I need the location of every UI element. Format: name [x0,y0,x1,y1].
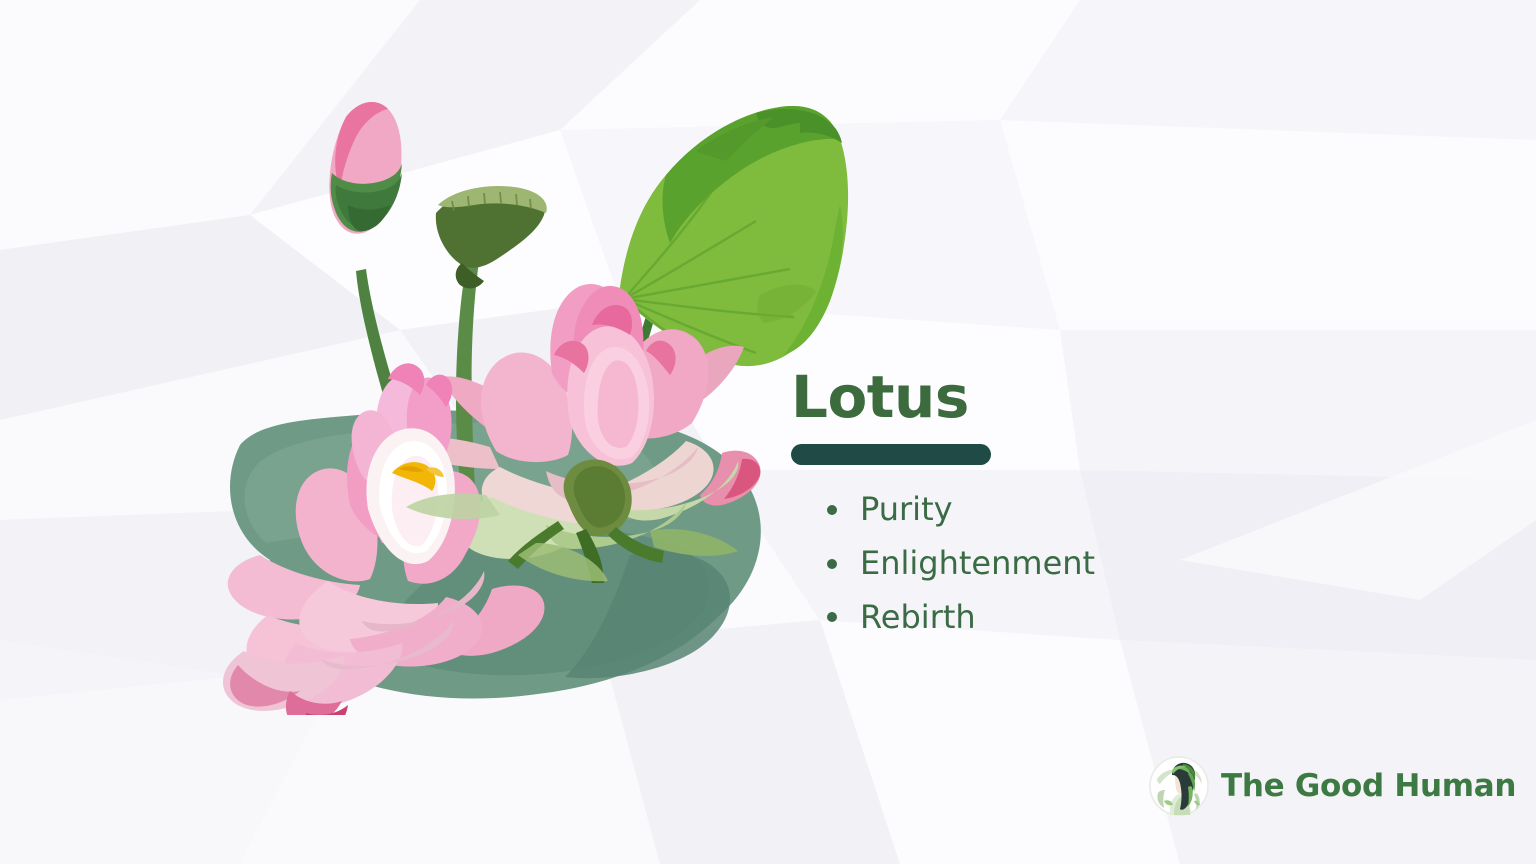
brand-logo: The Good Human [1148,755,1516,817]
list-item: Rebirth [791,591,1211,645]
content-text-block: Lotus Purity Enlightenment Rebirth [791,368,1211,644]
bullet-icon [827,559,837,569]
bullet-icon [827,612,837,622]
brand-name: The Good Human [1221,768,1516,804]
list-item: Purity [791,483,1211,537]
list-item-label: Enlightenment [860,537,1095,591]
lotus-leaf [620,106,848,366]
bullet-icon [827,505,837,515]
page-title: Lotus [791,368,1211,426]
list-item-label: Purity [860,483,953,537]
lotus-bud [329,102,402,234]
list-item-label: Rebirth [860,591,976,645]
title-divider [791,444,991,465]
brand-avatar-icon [1148,755,1210,817]
slide-canvas: Lotus Purity Enlightenment Rebirth [0,0,1536,864]
list-item: Enlightenment [791,537,1211,591]
attribute-list: Purity Enlightenment Rebirth [791,483,1211,644]
lotus-seed-pod [436,186,547,289]
